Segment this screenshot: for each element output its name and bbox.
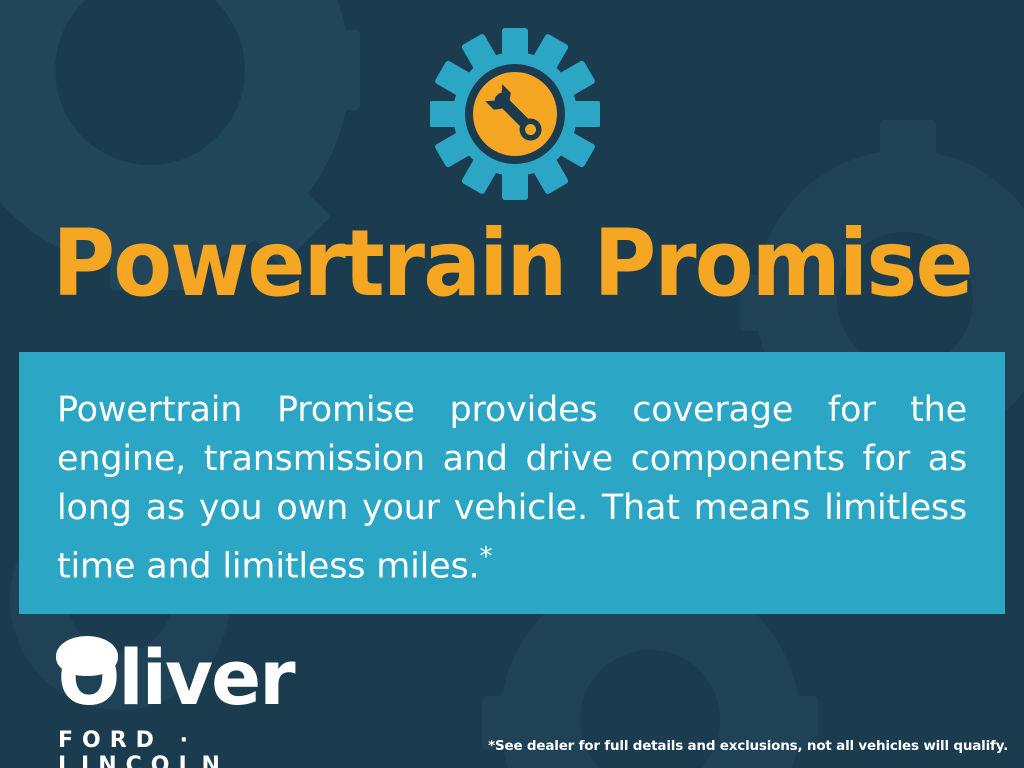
description-text: Powertrain Promise provides coverage for… (57, 386, 967, 592)
logo-subtitle: FORD · LINCOLN (58, 728, 328, 768)
dealer-logo: Oliver FORD · LINCOLN (28, 636, 328, 758)
description-line-1: Powertrain Promise provides coverage for… (57, 390, 967, 430)
disclaimer-text: *See dealer for full details and exclusi… (488, 738, 1008, 754)
description-line-2: engine, transmission and drive component… (57, 439, 845, 479)
logo-wordmark: Oliver (58, 640, 294, 716)
asterisk-marker: * (479, 542, 492, 572)
promotional-graphic: Powertrain Promise Powertrain Promise pr… (0, 0, 1024, 768)
gear-wrench-icon (430, 28, 600, 200)
page-title: Powertrain Promise (36, 218, 988, 310)
description-panel: Powertrain Promise provides coverage for… (19, 352, 1005, 614)
